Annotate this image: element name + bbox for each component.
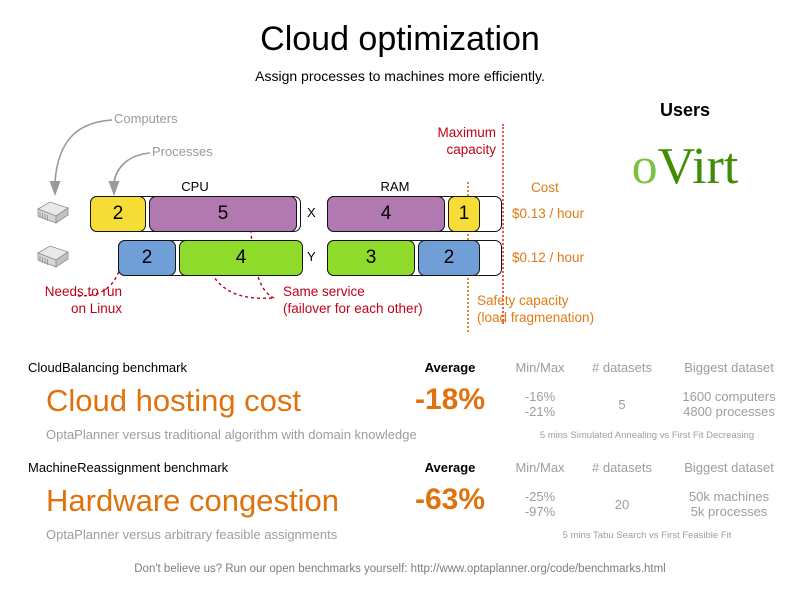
benchmark-average-header: Average [404, 360, 496, 375]
benchmark-machinereassignment: MachineReassignment benchmark Hardware c… [0, 455, 800, 550]
benchmark-biggest-header: Biggest dataset [664, 360, 794, 375]
ovirt-logo-virt: Virt [658, 138, 739, 195]
benchmark-footnote: 5 mins Tabu Search vs First Feasible Fit [500, 530, 794, 541]
annotation-maximum-capacity: Maximum capacity [400, 124, 496, 158]
annotation-needs-linux: Needs to run on Linux [14, 283, 122, 317]
users-heading: Users [590, 100, 780, 121]
benchmark-minmax-header: Min/Max [500, 460, 580, 475]
benchmark-biggest-line1: 1600 computers [664, 389, 794, 404]
annotation-safety-capacity-line1: Safety capacity [477, 292, 594, 309]
cloud-diagram: Computers Processes CPU RAM Cost Maximum… [0, 100, 560, 335]
ram-segment-y-2[interactable]: 2 [418, 240, 480, 276]
benchmark-average-value: -18% [404, 383, 496, 417]
benchmark-datasets-header: # datasets [580, 460, 664, 475]
benchmark-biggest-values: 1600 computers 4800 processes [664, 389, 794, 419]
benchmark-biggest-line1: 50k machines [664, 489, 794, 504]
cost-value-y: $0.12 / hour [512, 249, 584, 266]
annotation-same-service: Same service (failover for each other) [283, 283, 423, 317]
annotation-needs-linux-line1: Needs to run [14, 283, 122, 300]
benchmark-name: MachineReassignment benchmark [28, 460, 228, 475]
benchmark-minmax-values: -16% -21% [500, 389, 580, 419]
machine-label-y: Y [307, 249, 316, 264]
benchmark-average-header: Average [404, 460, 496, 475]
cpu-segment-x-1[interactable]: 2 [90, 196, 146, 232]
benchmark-biggest-line2: 4800 processes [664, 404, 794, 419]
benchmark-headline: Cloud hosting cost [46, 383, 301, 419]
benchmark-minmax-values: -25% -97% [500, 489, 580, 519]
page-title: Cloud optimization [0, 20, 800, 59]
benchmark-datasets-value: 20 [580, 497, 664, 512]
benchmark-min-value: -16% [500, 389, 580, 404]
column-header-cpu: CPU [150, 179, 240, 194]
benchmark-min-value: -25% [500, 489, 580, 504]
annotation-processes: Processes [152, 144, 213, 159]
server-icon [30, 199, 70, 227]
column-header-ram: RAM [350, 179, 440, 194]
benchmark-datasets-value: 5 [580, 397, 664, 412]
benchmark-subtext: OptaPlanner versus traditional algorithm… [46, 427, 417, 442]
annotation-maximum-capacity-line1: Maximum [400, 124, 496, 141]
annotation-needs-linux-line2: on Linux [14, 300, 122, 317]
benchmark-average-value: -63% [404, 483, 496, 517]
ram-segment-x-2[interactable]: 1 [448, 196, 480, 232]
footer-text: Don't believe us? Run our open benchmark… [0, 563, 800, 575]
page-subtitle: Assign processes to machines more effici… [0, 68, 800, 84]
annotation-safety-capacity-line2: (load fragmenation) [477, 309, 594, 326]
benchmark-biggest-values: 50k machines 5k processes [664, 489, 794, 519]
ram-segment-y-1[interactable]: 3 [327, 240, 415, 276]
benchmark-datasets-header: # datasets [580, 360, 664, 375]
machine-row-y: 2 4 Y 3 2 $0.12 / hour [0, 240, 560, 276]
benchmark-max-value: -21% [500, 404, 580, 419]
benchmark-headline: Hardware congestion [46, 483, 339, 519]
benchmark-biggest-header: Biggest dataset [664, 460, 794, 475]
cpu-segment-y-2[interactable]: 4 [179, 240, 303, 276]
benchmark-max-value: -97% [500, 504, 580, 519]
ovirt-logo-o: o [632, 138, 658, 195]
server-icon [30, 243, 70, 271]
ovirt-logo: oVirt [590, 138, 780, 196]
column-header-cost: Cost [531, 179, 559, 196]
annotation-computers: Computers [114, 111, 178, 126]
cpu-segment-y-1[interactable]: 2 [118, 240, 176, 276]
benchmark-subtext: OptaPlanner versus arbitrary feasible as… [46, 527, 337, 542]
benchmark-cloudbalancing: CloudBalancing benchmark Cloud hosting c… [0, 355, 800, 450]
ram-segment-x-1[interactable]: 4 [327, 196, 445, 232]
machine-label-x: X [307, 205, 316, 220]
annotation-same-service-line2: (failover for each other) [283, 300, 423, 317]
benchmark-name: CloudBalancing benchmark [28, 360, 187, 375]
machine-row-x: 2 5 X 4 1 $0.13 / hour [0, 196, 560, 232]
annotation-maximum-capacity-line2: capacity [400, 141, 496, 158]
slide-root: Cloud optimization Assign processes to m… [0, 0, 800, 600]
benchmark-biggest-line2: 5k processes [664, 504, 794, 519]
cpu-segment-x-2[interactable]: 5 [149, 196, 297, 232]
benchmark-minmax-header: Min/Max [500, 360, 580, 375]
cost-value-x: $0.13 / hour [512, 205, 584, 222]
annotation-same-service-line1: Same service [283, 283, 423, 300]
benchmark-footnote: 5 mins Simulated Annealing vs First Fit … [500, 430, 794, 441]
annotation-safety-capacity: Safety capacity (load fragmenation) [477, 292, 594, 326]
